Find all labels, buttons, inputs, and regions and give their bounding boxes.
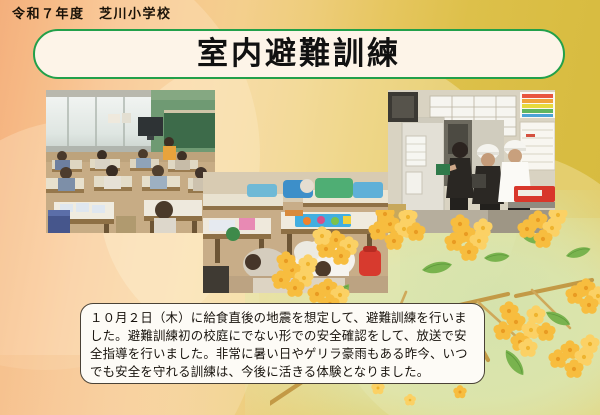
photo-classroom-overview xyxy=(46,90,215,233)
article-line: した。避難訓練初の校庭にでない形での安全確認をして、放送で安 xyxy=(90,327,476,345)
page-header-school-year: 令和７年度 芝川小学校 xyxy=(12,3,172,22)
students-under-desks-image xyxy=(203,172,388,293)
article-line: １０月２日（木）に給食直後の地震を想定して、避難訓練を行いま xyxy=(90,309,476,327)
photo-students-under-desks xyxy=(203,172,388,293)
classroom-overview-image xyxy=(46,90,215,233)
article-line: 全指導を行いました。非常に暑い日やゲリラ豪雨もある昨今、いつ xyxy=(90,345,476,363)
article-line: でも安全を守れる訓練は、今後に活きる体験となりました。 xyxy=(90,363,476,381)
photo-teachers-broadcast-room xyxy=(388,90,555,233)
teachers-broadcast-room-image xyxy=(388,90,555,233)
article-text-box: １０月２日（木）に給食直後の地震を想定して、避難訓練を行いま した。避難訓練初の… xyxy=(80,303,485,384)
title-banner: 室内避難訓練 xyxy=(33,29,565,79)
newsletter-page: 令和７年度 芝川小学校 室内避難訓練 xyxy=(0,0,600,415)
page-title: 室内避難訓練 xyxy=(197,39,401,70)
